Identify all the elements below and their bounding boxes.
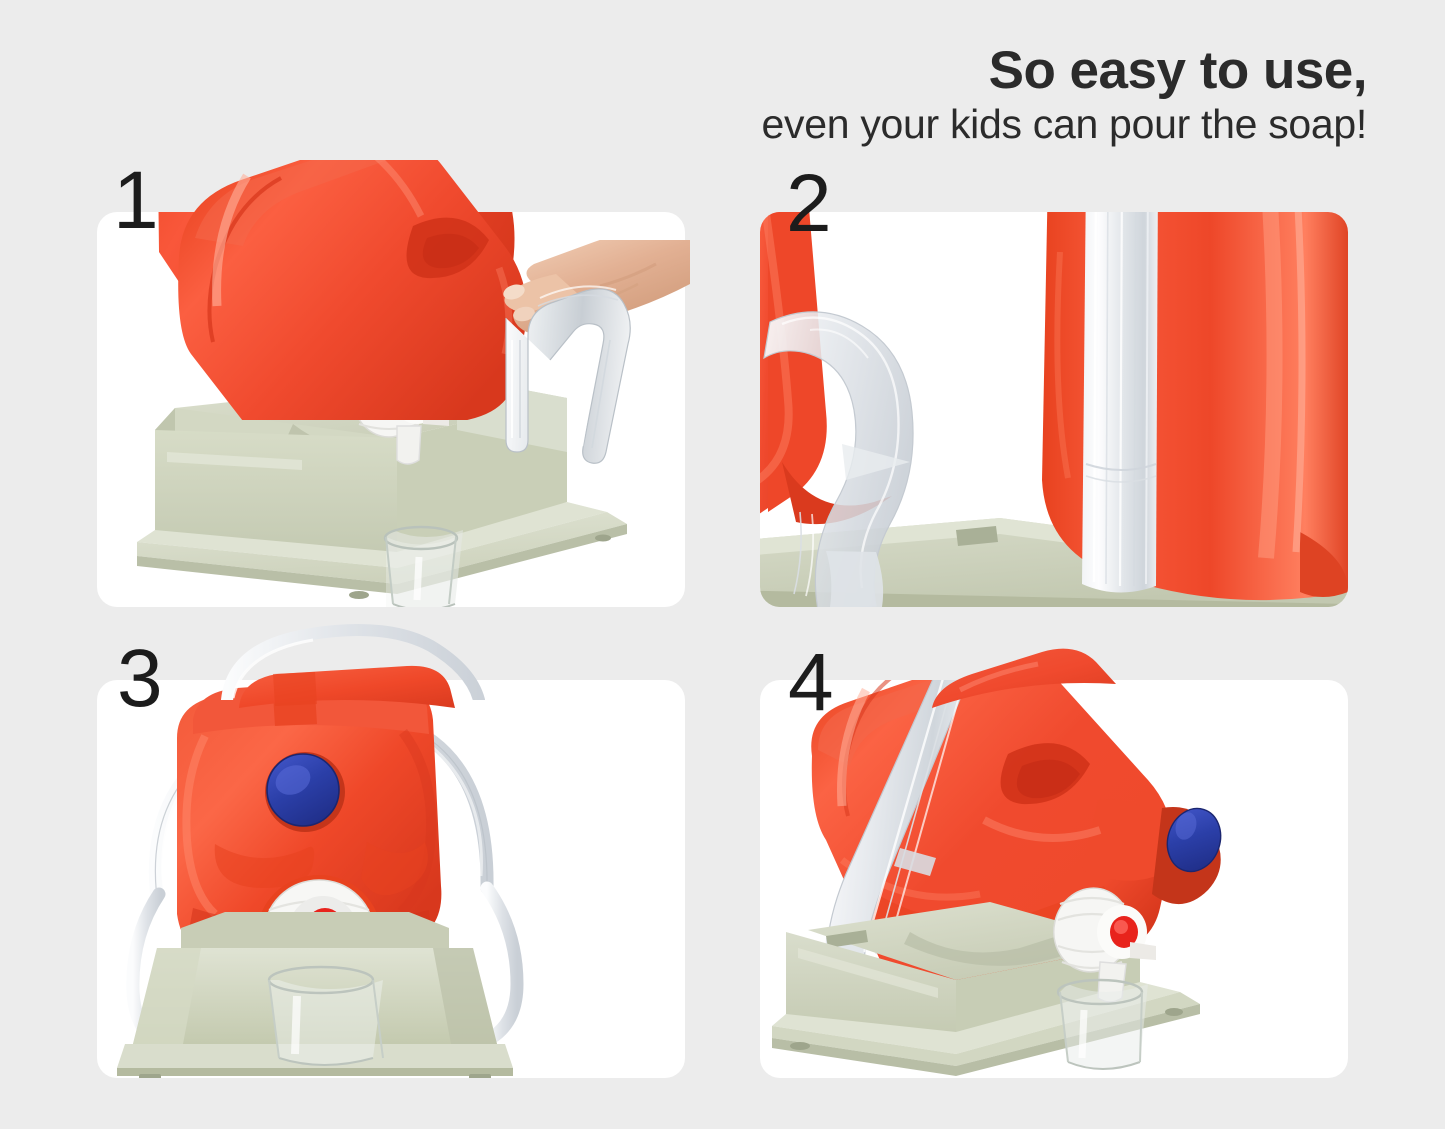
headline-line-2: even your kids can pour the soap! (467, 97, 1367, 152)
step-4-illustration (760, 680, 1348, 1078)
step-3-illustration (97, 680, 685, 1078)
measuring-cup (1058, 980, 1148, 1069)
detergent-jug (157, 212, 515, 419)
strap-threaded-through-slot (1082, 212, 1158, 593)
blue-cap (1152, 802, 1229, 905)
headline: So easy to use, even your kids can pour … (467, 44, 1367, 152)
step-number-3: 3 (117, 638, 163, 720)
step-number-4: 4 (788, 642, 834, 724)
measuring-cup (385, 527, 463, 607)
step-1-illustration (97, 212, 685, 607)
step-2-illustration (760, 212, 1348, 607)
blue-cap (265, 752, 345, 832)
headline-line-1: So easy to use, (467, 44, 1367, 97)
step-number-1: 1 (113, 160, 159, 242)
step-number-2: 2 (786, 163, 832, 245)
